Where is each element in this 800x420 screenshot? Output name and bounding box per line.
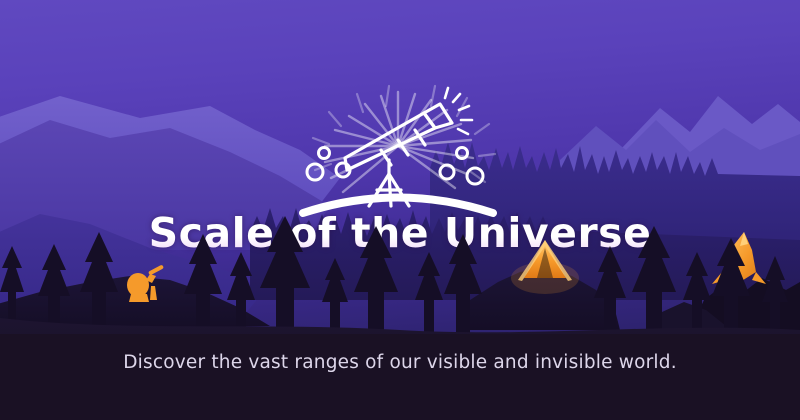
ground-band-solid [0, 334, 800, 420]
page-title: Scale of the Universe [0, 208, 800, 258]
telescope-emblem [285, 78, 515, 218]
rock-right [690, 278, 800, 336]
hero-banner: Scale of the Universe Scale of the Unive… [0, 0, 800, 420]
hill-center [470, 268, 620, 330]
mountain-far-right [620, 96, 800, 190]
page-subtitle: Discover the vast ranges of our visible … [0, 352, 800, 373]
mountain-far-right-2 [560, 120, 800, 200]
hill-left [0, 276, 270, 330]
orbit-bubbles-left [307, 148, 350, 181]
rock-right-2 [640, 302, 740, 336]
stargazer-figure [127, 264, 164, 302]
